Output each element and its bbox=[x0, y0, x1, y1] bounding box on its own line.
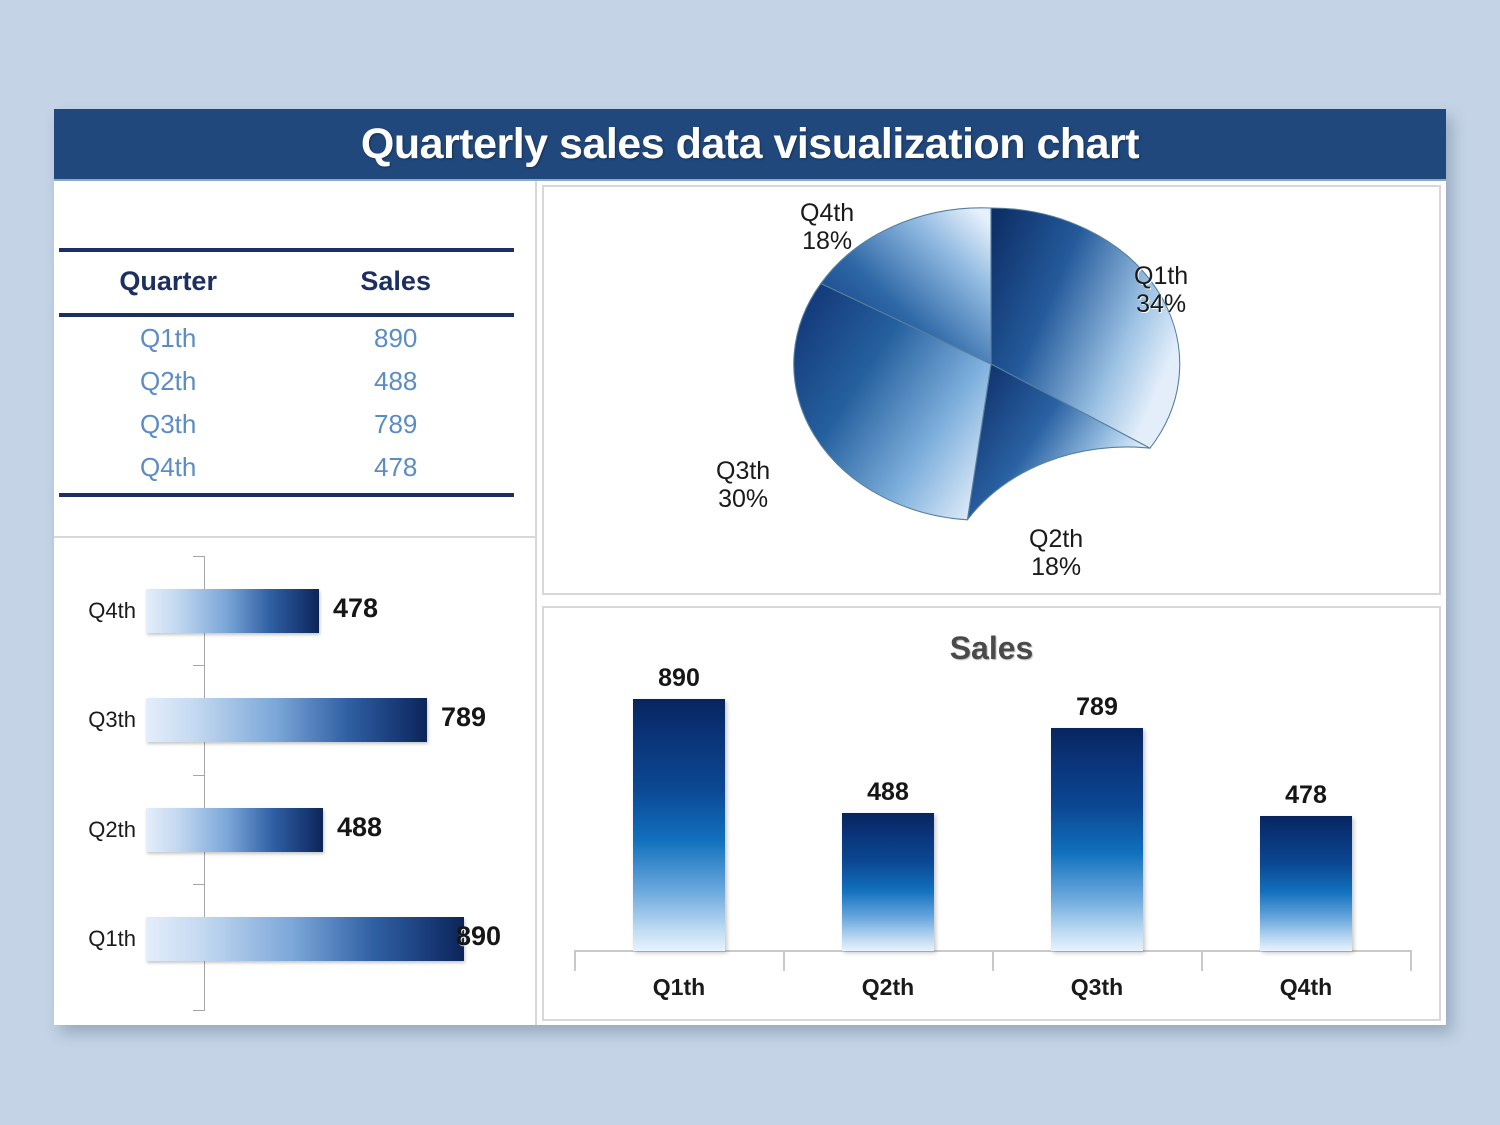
pie-label-q2th: Q2th 18% bbox=[1029, 525, 1083, 581]
cell-quarter: Q2th bbox=[59, 360, 277, 403]
column-header-quarter: Quarter bbox=[59, 250, 277, 315]
hbar-value-label: 789 bbox=[441, 702, 486, 733]
horizontal-bar-item[interactable]: Q4th 478 bbox=[54, 556, 535, 666]
hbar-fill bbox=[146, 917, 464, 961]
pie-label-q3th-name: Q3th bbox=[716, 457, 770, 485]
hbar-category-label: Q3th bbox=[54, 707, 146, 733]
table-row: Q3th 789 bbox=[59, 403, 514, 446]
vbar-category-label: Q3th bbox=[997, 974, 1197, 1001]
cell-quarter: Q3th bbox=[59, 403, 277, 446]
hbar-value-label: 478 bbox=[333, 593, 378, 624]
hbar-track: 478 bbox=[146, 556, 535, 666]
table-header: Quarter Sales bbox=[59, 250, 514, 315]
x-axis-tick bbox=[1201, 951, 1203, 971]
vbar-value-label: 488 bbox=[788, 778, 988, 807]
pie-label-q1th-name: Q1th bbox=[1134, 262, 1188, 290]
cell-sales: 890 bbox=[277, 315, 514, 360]
horizontal-bar-plot-area: Q4th 478 Q3th 789 bbox=[54, 538, 535, 1025]
hbar-value-label: 488 bbox=[337, 812, 382, 843]
hbar-fill bbox=[146, 808, 323, 852]
vertical-bar-item[interactable]: 789 Q3th bbox=[997, 608, 1197, 1019]
vertical-bar-item[interactable]: 478 Q4th bbox=[1206, 608, 1406, 1019]
vbar-category-label: Q1th bbox=[579, 974, 779, 1001]
hbar-value-label: 890 bbox=[456, 921, 501, 952]
pie-label-q2th-pct: 18% bbox=[1029, 553, 1083, 581]
hbar-category-label: Q4th bbox=[54, 598, 146, 624]
hbar-category-label: Q2th bbox=[54, 817, 146, 843]
dashboard-title-bar: Quarterly sales data visualization chart bbox=[54, 109, 1446, 181]
pie-label-q4th-pct: 18% bbox=[800, 227, 854, 255]
hbar-track: 890 bbox=[146, 884, 535, 994]
vbar-fill bbox=[633, 699, 725, 951]
hbar-fill bbox=[146, 589, 319, 633]
pie-chart-svg[interactable] bbox=[544, 187, 1439, 593]
horizontal-bar-item[interactable]: Q2th 488 bbox=[54, 775, 535, 885]
horizontal-bar-chart-panel: Q4th 478 Q3th 789 bbox=[54, 538, 537, 1025]
y-axis-tick bbox=[193, 1010, 205, 1011]
vbar-value-label: 789 bbox=[997, 693, 1197, 722]
horizontal-bar-item[interactable]: Q3th 789 bbox=[54, 665, 535, 775]
cell-quarter: Q1th bbox=[59, 315, 277, 360]
cell-sales: 488 bbox=[277, 360, 514, 403]
cell-sales: 478 bbox=[277, 446, 514, 495]
table-row: Q1th 890 bbox=[59, 315, 514, 360]
hbar-track: 488 bbox=[146, 775, 535, 885]
page-title: Quarterly sales data visualization chart bbox=[361, 120, 1139, 169]
table-header-row: Quarter Sales bbox=[59, 250, 514, 315]
dashboard-card: Quarterly sales data visualization chart… bbox=[54, 109, 1446, 1025]
column-header-sales: Sales bbox=[277, 250, 514, 315]
x-axis-tick bbox=[783, 951, 785, 971]
vbar-value-label: 890 bbox=[579, 664, 779, 693]
vbar-category-label: Q2th bbox=[788, 974, 988, 1001]
pie-label-q1th: Q1th 34% bbox=[1134, 262, 1188, 318]
vertical-bar-item[interactable]: 488 Q2th bbox=[788, 608, 988, 1019]
vertical-bar-item[interactable]: 890 Q1th bbox=[579, 608, 779, 1019]
vbar-fill bbox=[1051, 728, 1143, 951]
sales-table-panel: Quarter Sales Q1th 890 Q2th 488 bbox=[54, 181, 537, 538]
hbar-category-label: Q1th bbox=[54, 926, 146, 952]
horizontal-bar-item[interactable]: Q1th 890 bbox=[54, 884, 535, 994]
vertical-bar-chart-panel: Sales 890 Q1th bbox=[542, 606, 1441, 1021]
table-row: Q2th 488 bbox=[59, 360, 514, 403]
vbar-category-label: Q4th bbox=[1206, 974, 1406, 1001]
vertical-bar-plot-area: 890 Q1th 488 Q2th 789 Q3th bbox=[544, 608, 1439, 1019]
pie-chart-panel: Q1th 34% Q2th 18% Q3th 30% Q4th 18% bbox=[542, 185, 1441, 595]
left-column: Quarter Sales Q1th 890 Q2th 488 bbox=[54, 181, 537, 1025]
vbar-fill bbox=[1260, 816, 1352, 951]
vbar-value-label: 478 bbox=[1206, 781, 1406, 810]
cell-sales: 789 bbox=[277, 403, 514, 446]
hbar-fill bbox=[146, 698, 427, 742]
table-body: Q1th 890 Q2th 488 Q3th 789 Q4th bbox=[59, 315, 514, 495]
pie-label-q3th: Q3th 30% bbox=[716, 457, 770, 513]
x-axis-tick bbox=[1410, 951, 1412, 971]
table-row: Q4th 478 bbox=[59, 446, 514, 495]
cell-quarter: Q4th bbox=[59, 446, 277, 495]
pie-label-q1th-pct: 34% bbox=[1134, 290, 1188, 318]
sales-table: Quarter Sales Q1th 890 Q2th 488 bbox=[59, 248, 514, 497]
pie-label-q4th-name: Q4th bbox=[800, 199, 854, 227]
pie-label-q2th-name: Q2th bbox=[1029, 525, 1083, 553]
vbar-fill bbox=[842, 813, 934, 951]
pie-label-q3th-pct: 30% bbox=[716, 485, 770, 513]
pie-label-q4th: Q4th 18% bbox=[800, 199, 854, 255]
screenshot-canvas: Quarterly sales data visualization chart… bbox=[0, 0, 1500, 1125]
hbar-track: 789 bbox=[146, 665, 535, 775]
right-column: Q1th 34% Q2th 18% Q3th 30% Q4th 18% bbox=[537, 181, 1446, 1025]
x-axis-tick bbox=[574, 951, 576, 971]
x-axis-tick bbox=[992, 951, 994, 971]
